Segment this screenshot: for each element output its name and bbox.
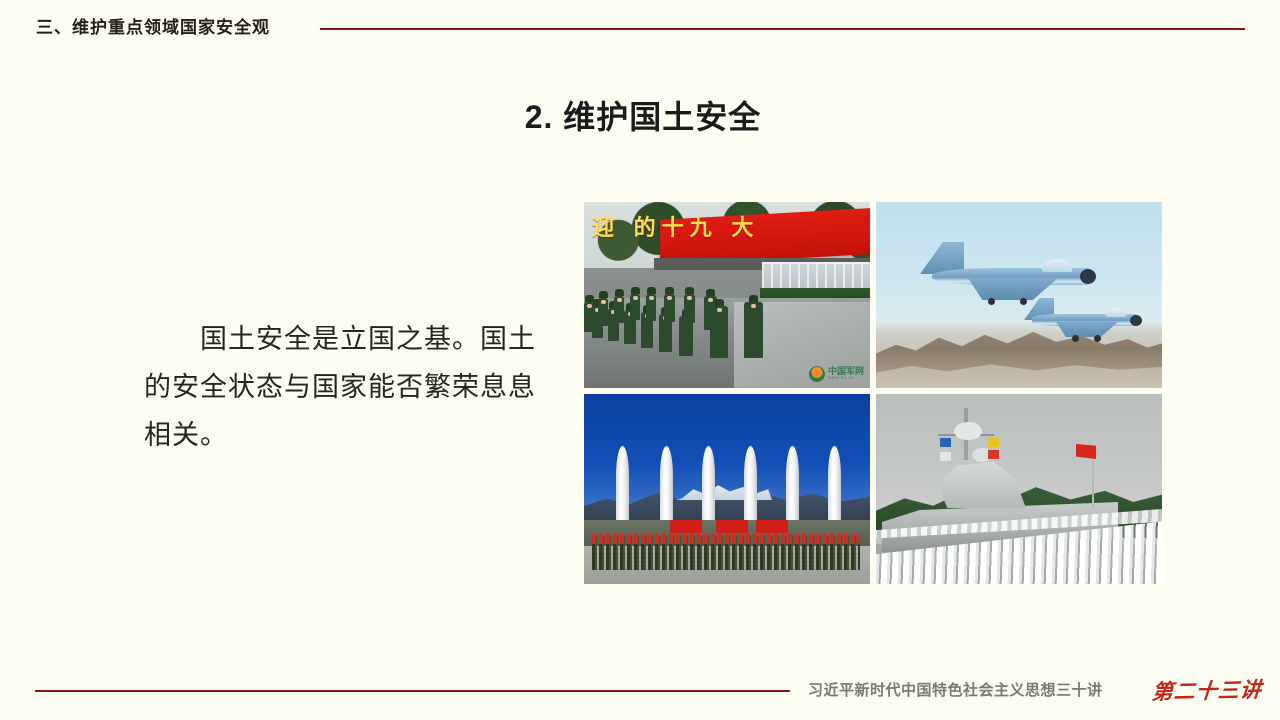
jet-nose-cone (1080, 269, 1096, 284)
soldier-front (744, 302, 763, 358)
red-banner-small (716, 520, 748, 533)
image-grid: 迎 的十九 大 中国军网 ww (584, 202, 1162, 584)
header-divider-line (320, 28, 1245, 30)
soldier (646, 294, 656, 321)
footer-divider-line (35, 690, 790, 692)
footer-lecture-label: 第二十三讲 (1151, 674, 1264, 706)
footer-book-title: 习近平新时代中国特色社会主义思想三十讲 (808, 679, 1103, 700)
fighter-jet-lead (916, 246, 1092, 308)
signal-flag (988, 450, 999, 459)
slide-root: 三、维护重点领域国家安全观 2. 维护国土安全 国土安全是立国之基。国土的安全状… (0, 0, 1280, 720)
soldier (684, 294, 695, 323)
signal-flag (940, 452, 951, 461)
soldier (614, 296, 624, 323)
watermark-logo-icon (809, 366, 825, 382)
signal-flag (988, 438, 999, 447)
china-flag-icon (1076, 444, 1096, 459)
site-watermark: 中国军网 www.81.cn (809, 366, 864, 382)
snow-cap (676, 482, 772, 500)
ship-superstructure (930, 454, 1026, 508)
photo-navy-destroyer (876, 394, 1162, 584)
soldier (630, 294, 640, 320)
fighter-jet-wingman (1022, 300, 1140, 342)
red-banner-small (756, 520, 788, 533)
photo-fighter-jets (876, 202, 1162, 388)
watermark-en: www.81.cn (828, 376, 864, 381)
soldier (598, 298, 608, 326)
jet-wing (968, 278, 1058, 300)
jet-canopy (1106, 308, 1126, 317)
jet-landing-gear (1072, 335, 1079, 342)
soldier (664, 294, 675, 322)
body-paragraph: 国土安全是立国之基。国土的安全状态与国家能否繁荣息息相关。 (144, 315, 554, 459)
page-title-text: 2. 维护国土安全 (525, 92, 762, 138)
signal-flag (940, 438, 951, 447)
watermark-text: 中国军网 www.81.cn (828, 367, 864, 381)
jet-landing-gear (1094, 335, 1101, 342)
photo-missile-formation (584, 394, 870, 584)
banner-text: 迎 的十九 大 (592, 210, 759, 242)
section-title: 三、维护重点领域国家安全观 (36, 13, 270, 38)
jet-wing (1056, 322, 1118, 337)
radar-dome (954, 422, 982, 440)
red-flag-row (592, 534, 860, 544)
soldier (584, 302, 594, 332)
photo-armed-police-parade: 迎 的十九 大 中国军网 ww (584, 202, 870, 388)
body-text-block: 国土安全是立国之基。国土的安全状态与国家能否繁荣息息相关。 (144, 315, 554, 459)
jet-landing-gear (988, 298, 995, 305)
page-title: 2. 维护国土安全 (0, 92, 1280, 138)
jet-nose-cone (1130, 315, 1142, 326)
slide-header: 三、维护重点领域国家安全观 (0, 0, 1280, 48)
red-banner-small (670, 520, 702, 533)
soldier (710, 306, 728, 358)
jet-canopy (1042, 259, 1072, 272)
